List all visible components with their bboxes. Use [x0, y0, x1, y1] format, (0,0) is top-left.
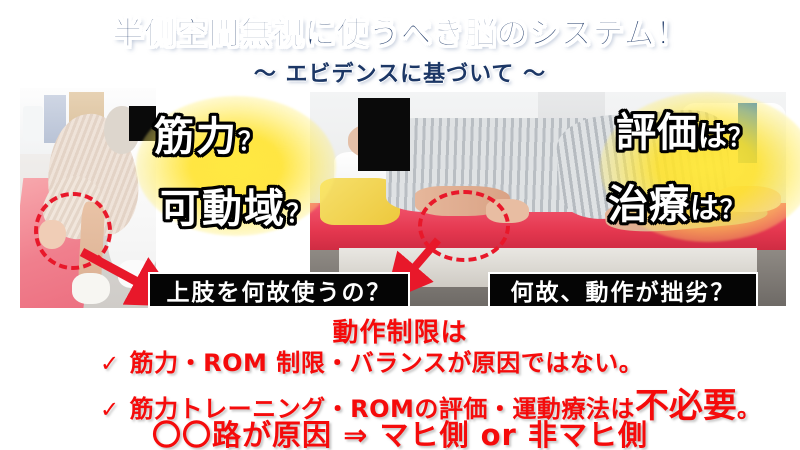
overlay-kinryoku-question: ？	[238, 127, 265, 156]
caption-bar-right: 何故、動作が拙劣？	[488, 272, 758, 308]
conclusion-bullet-1-text: 筋力・ROM 制限・バランスが原因ではない。	[130, 349, 644, 377]
conclusion-bullet-1: ✓筋力・ROM 制限・バランスが原因ではない。	[100, 343, 643, 378]
slide-root: 半側空間無視に使うべき脳のシステム！ 〜 エビデンスに基づいて 〜	[0, 0, 800, 450]
overlay-text-chiryou: 治療は？	[608, 172, 746, 230]
overlay-text-kinryoku: 筋力？	[154, 104, 265, 162]
caption-bar-left: 上肢を何故使うの？	[148, 272, 410, 308]
overlay-hyouka-word: 評価	[616, 110, 698, 156]
slide-title: 半側空間無視に使うべき脳のシステム！	[0, 8, 800, 53]
check-icon: ✓	[100, 351, 120, 377]
overlay-text-kadoiki: 可動域？	[160, 176, 313, 234]
overlay-kadoiki-word: 可動域	[160, 186, 286, 232]
overlay-chiryou-word: 治療	[608, 182, 690, 228]
overlay-hyouka-question: ？	[728, 123, 754, 152]
conclusion-final-line: 〇〇路が原因 ⇒ マヒ側 or 非マヒ側	[0, 412, 800, 450]
slide-subtitle: 〜 エビデンスに基づいて 〜	[0, 56, 800, 88]
overlay-text-hyouka: 評価は？	[616, 100, 754, 158]
overlay-kadoiki-question: ？	[286, 199, 313, 228]
overlay-chiryou-particle: は	[690, 191, 720, 225]
room-sink	[23, 106, 43, 141]
face-censor-bar	[358, 98, 410, 171]
overlay-chiryou-question: ？	[720, 195, 746, 224]
overlay-hyouka-particle: は	[698, 119, 728, 153]
overlay-kinryoku-word: 筋力	[154, 114, 238, 160]
